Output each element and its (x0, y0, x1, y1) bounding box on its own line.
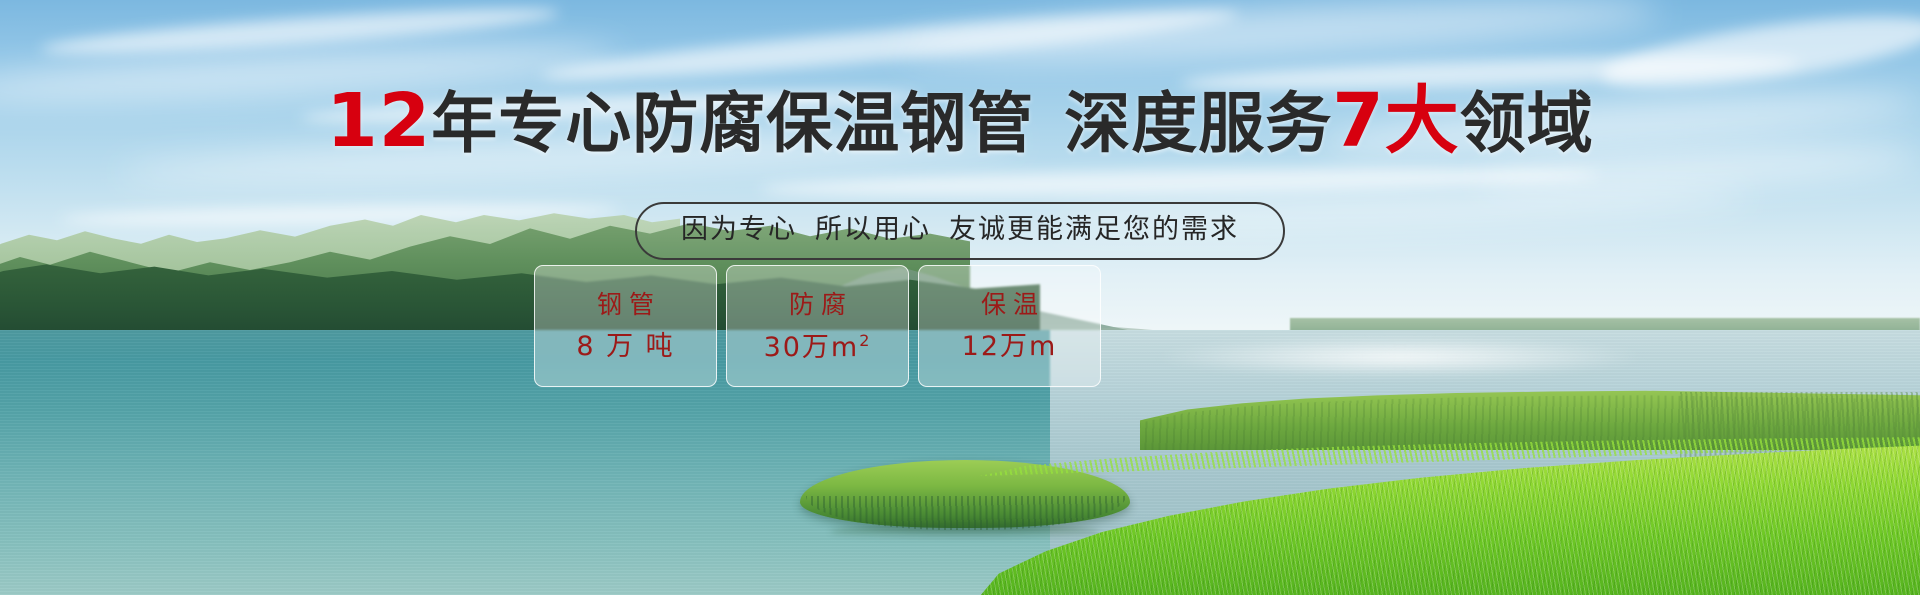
stat-card-value-text: 8 万 吨 (576, 331, 674, 362)
stat-card-title: 保温 (974, 292, 1045, 317)
water-shimmer (1150, 336, 1650, 378)
promo-banner: 12年专心防腐保温钢管深度服务7大领域 因为专心所以用心友诚更能满足您的需求 钢… (0, 0, 1920, 595)
stat-card-steel-pipe[interactable]: 钢管 8 万 吨 (534, 265, 717, 387)
subtitle-pill: 因为专心所以用心友诚更能满足您的需求 (635, 202, 1285, 260)
headline-service-text: 深度服务 (1064, 85, 1332, 162)
stat-card-value-text: 12万m (962, 331, 1058, 362)
headline-years-number: 12 (326, 78, 431, 164)
headline-main-text: 年专心防腐保温钢管 (431, 85, 1034, 162)
stat-card-value: 8 万 吨 (576, 333, 674, 360)
stat-card-value: 30万m2 (764, 333, 872, 361)
subtitle-segment-2: 所以用心 (815, 214, 931, 245)
stat-card-group: 钢管 8 万 吨 防腐 30万m2 保温 12万m (534, 265, 1101, 387)
stat-card-anticorrosion[interactable]: 防腐 30万m2 (726, 265, 909, 387)
stat-card-value-superscript: 2 (859, 331, 871, 350)
subtitle-segment-1: 因为专心 (681, 214, 797, 245)
headline-fields-text: 领域 (1460, 85, 1594, 162)
stat-card-title: 防腐 (782, 292, 853, 317)
island-reflection (830, 524, 1100, 540)
headline: 12年专心防腐保温钢管深度服务7大领域 (0, 84, 1920, 158)
headline-fields-count: 7大 (1332, 78, 1460, 164)
stat-card-insulation[interactable]: 保温 12万m (918, 265, 1101, 387)
stat-card-value-text: 30万m (764, 332, 860, 363)
stat-card-value: 12万m (962, 333, 1058, 360)
subtitle-segment-3: 友诚更能满足您的需求 (949, 214, 1239, 245)
stat-card-title: 钢管 (590, 292, 661, 317)
